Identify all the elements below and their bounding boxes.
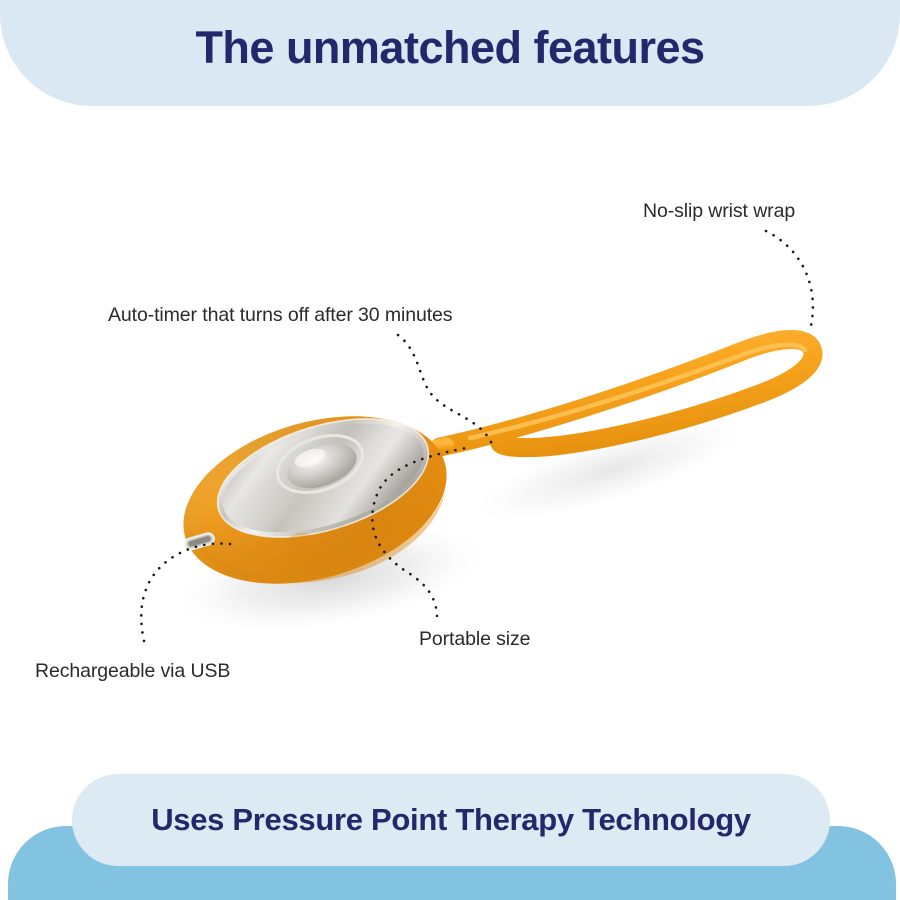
leader-no-slip-wrist-wrap — [766, 231, 813, 330]
usb-port — [184, 532, 215, 551]
strap-shadow — [457, 394, 764, 547]
device-shell — [164, 388, 467, 612]
callout-label-rechargeable-usb: Rechargeable via USB — [35, 660, 230, 683]
footer-tagline: Uses Pressure Point Therapy Technology — [72, 774, 830, 866]
massager-device — [164, 388, 467, 612]
control-buttons[interactable] — [284, 515, 406, 557]
callout-label-auto-timer: Auto-timer that turns off after 30 minut… — [108, 304, 452, 327]
leader-rechargeable-usb — [141, 544, 230, 641]
leader-auto-timer — [398, 335, 492, 444]
callout-label-portable-size: Portable size — [419, 628, 530, 651]
leader-lines — [141, 231, 813, 641]
leader-portable-size — [372, 448, 466, 616]
page-title: The unmatched features — [0, 22, 900, 74]
product-illustration — [0, 0, 900, 900]
callout-label-no-slip-wrist-wrap: No-slip wrist wrap — [643, 200, 795, 223]
power-button[interactable] — [281, 435, 362, 496]
metal-plate — [204, 396, 443, 559]
wrist-strap — [418, 339, 813, 452]
infographic-page: The unmatched features — [0, 0, 900, 900]
power-button-ring[interactable] — [270, 425, 370, 503]
